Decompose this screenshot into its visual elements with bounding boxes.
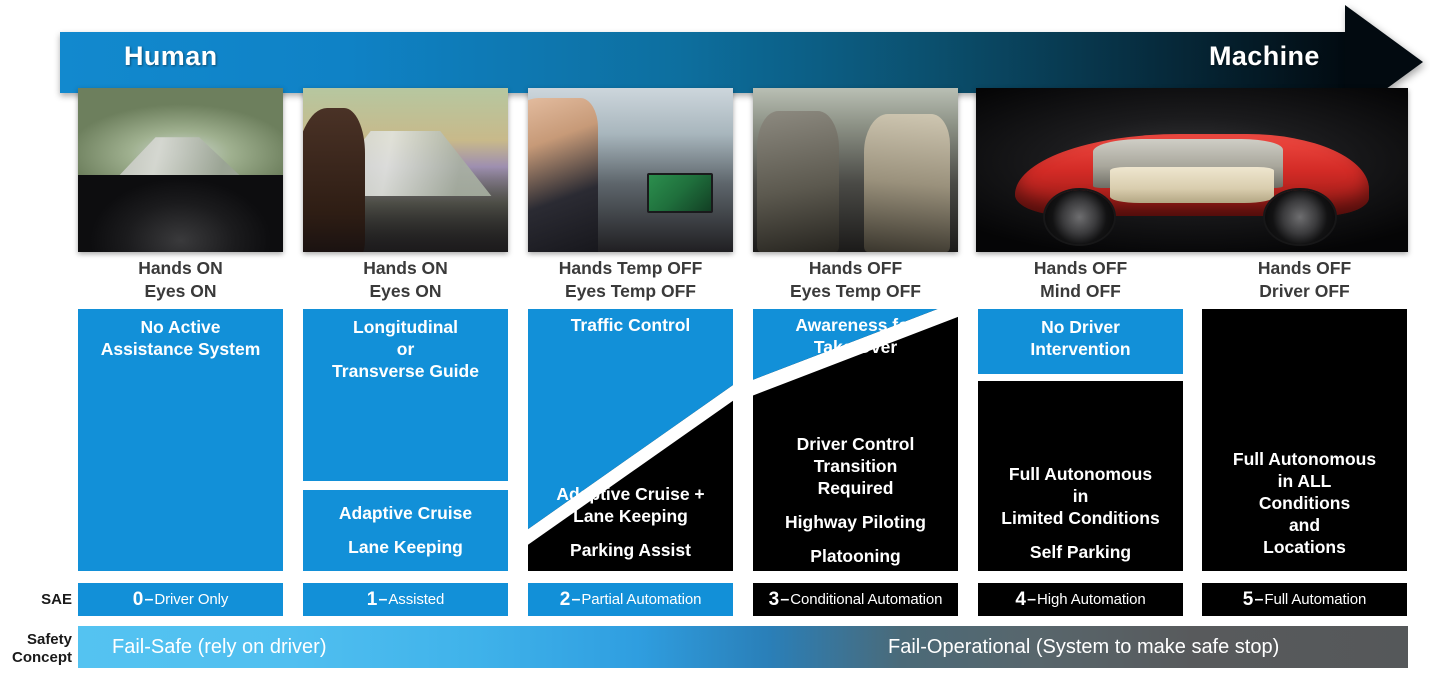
sae-number: 2 (560, 589, 571, 611)
sae-number: 4 (1015, 589, 1026, 611)
block-line: Transition (757, 456, 954, 478)
sae-dash: – (144, 591, 153, 609)
block-line: Transverse Guide (307, 361, 504, 383)
arrow-label-machine: Machine (1209, 41, 1320, 72)
safety-label-line1: Safety (0, 631, 72, 649)
caption-column-6: Hands OFF Driver OFF (1202, 257, 1407, 303)
block-line: and (1206, 515, 1403, 537)
block-col6-full-autonomous-all[interactable]: Full Autonomous in ALL Conditions and Lo… (1202, 309, 1407, 571)
safety-text-fail-operational: Fail-Operational (System to make safe st… (888, 636, 1279, 659)
safety-text-fail-safe: Fail-Safe (rely on driver) (112, 636, 327, 659)
block-line: Limited Conditions (982, 508, 1179, 530)
block-col2-longitudinal-transverse-guide[interactable]: Longitudinal or Transverse Guide (303, 309, 508, 481)
automation-levels-diagram: Human Machine Hands ON Eyes ON Hands ON … (0, 0, 1430, 675)
caption-column-5: Hands OFF Mind OFF (978, 257, 1183, 303)
block-line: Highway Piloting (757, 512, 954, 534)
sae-dash: – (571, 591, 580, 609)
sae-level-0[interactable]: 0–Driver Only (78, 583, 283, 616)
block-col4-awareness-takeover-split[interactable]: Awareness for Take Over Driver Control T… (753, 309, 958, 571)
sae-level-1[interactable]: 1–Assisted (303, 583, 508, 616)
caption-line1: Hands ON (78, 257, 283, 280)
caption-line2: Mind OFF (978, 280, 1183, 303)
block-line: Adaptive Cruise (307, 503, 504, 525)
block-col5-no-driver-intervention[interactable]: No Driver Intervention (978, 309, 1183, 374)
photo-column-2 (303, 88, 508, 252)
caption-column-3: Hands Temp OFF Eyes Temp OFF (528, 257, 733, 303)
photo-woman-driving-lavender-field (303, 88, 508, 252)
block-line: Traffic Control (532, 315, 729, 337)
car-wheel-front-icon (1045, 190, 1114, 244)
block-col5-full-autonomous-limited[interactable]: Full Autonomous in Limited Conditions Se… (978, 381, 1183, 571)
photo-column-3 (528, 88, 733, 252)
block-line: No Driver (982, 317, 1179, 339)
block-line: Full Autonomous (1206, 449, 1403, 471)
safety-label-line2: Concept (0, 649, 72, 667)
block-line: in ALL (1206, 471, 1403, 493)
caption-column-4: Hands OFF Eyes Temp OFF (753, 257, 958, 303)
caption-line2: Eyes Temp OFF (753, 280, 958, 303)
caption-line1: Hands OFF (978, 257, 1183, 280)
caption-line2: Driver OFF (1202, 280, 1407, 303)
block-line: No Active (82, 317, 279, 339)
sae-label: Driver Only (154, 591, 228, 608)
photo-hands-on-wheel-country-road (78, 88, 283, 252)
sae-label: Partial Automation (581, 591, 701, 608)
block-line: Locations (1206, 537, 1403, 559)
block-col2-adaptive-cruise-lane-keeping[interactable]: Adaptive Cruise Lane Keeping (303, 490, 508, 571)
sae-number: 0 (133, 589, 144, 611)
block-line: Assistance System (82, 339, 279, 361)
human-to-machine-arrow-band (60, 32, 1350, 93)
block-line: Lane Keeping (307, 537, 504, 559)
photo-woman-reaching-back-seat (753, 88, 958, 252)
photo-man-hands-off-wheel-navigation (528, 88, 733, 252)
block-line: Platooning (757, 546, 954, 568)
caption-line1: Hands OFF (1202, 257, 1407, 280)
block-line: Parking Assist (532, 540, 729, 562)
block-line: Lane Keeping (532, 506, 729, 528)
row-label-sae: SAE (0, 591, 72, 609)
sae-dash: – (780, 591, 789, 609)
caption-line2: Eyes ON (78, 280, 283, 303)
caption-line2: Eyes ON (303, 280, 508, 303)
sae-number: 1 (367, 589, 378, 611)
sae-label: Assisted (388, 591, 444, 608)
caption-line2: Eyes Temp OFF (528, 280, 733, 303)
photo-column-1 (78, 88, 283, 252)
caption-column-2: Hands ON Eyes ON (303, 257, 508, 303)
block-line: in (982, 486, 1179, 508)
sae-label: Full Automation (1264, 591, 1366, 608)
sae-dash: – (1254, 591, 1263, 609)
sae-level-2[interactable]: 2–Partial Automation (528, 583, 733, 616)
block-line: Intervention (982, 339, 1179, 361)
block-line: Full Autonomous (982, 464, 1179, 486)
sae-level-4[interactable]: 4–High Automation (978, 583, 1183, 616)
block-line: or (307, 339, 504, 361)
arrow-label-human: Human (124, 41, 218, 72)
caption-line1: Hands OFF (753, 257, 958, 280)
block-line: Longitudinal (307, 317, 504, 339)
sae-number: 3 (769, 589, 780, 611)
block-line: Driver Control (757, 434, 954, 456)
sae-dash: – (378, 591, 387, 609)
row-label-safety-concept: Safety Concept (0, 631, 72, 667)
block-line: Take Over (757, 337, 954, 359)
block-col3-traffic-control-split[interactable]: Traffic Control Adaptive Cruise + Lane K… (528, 309, 733, 571)
block-line: Conditions (1206, 493, 1403, 515)
caption-line1: Hands ON (303, 257, 508, 280)
sae-dash: – (1027, 591, 1036, 609)
block-line: Required (757, 478, 954, 500)
car-wheel-rear-icon (1265, 190, 1334, 244)
block-line: Awareness for (757, 315, 954, 337)
car-seats-shape (1110, 167, 1274, 203)
photo-column-4 (753, 88, 958, 252)
block-line: Self Parking (982, 542, 1179, 564)
sae-label: Conditional Automation (790, 591, 942, 608)
caption-column-1: Hands ON Eyes ON (78, 257, 283, 303)
caption-line1: Hands Temp OFF (528, 257, 733, 280)
sae-level-5[interactable]: 5–Full Automation (1202, 583, 1407, 616)
block-line: Adaptive Cruise + (532, 484, 729, 506)
block-col1-no-active-assistance[interactable]: No Active Assistance System (78, 309, 283, 571)
photo-column-5-6 (976, 88, 1408, 252)
sae-number: 5 (1243, 589, 1254, 611)
photo-red-autonomous-concept-car (976, 88, 1408, 252)
sae-label: High Automation (1037, 591, 1146, 608)
sae-level-3[interactable]: 3–Conditional Automation (753, 583, 958, 616)
